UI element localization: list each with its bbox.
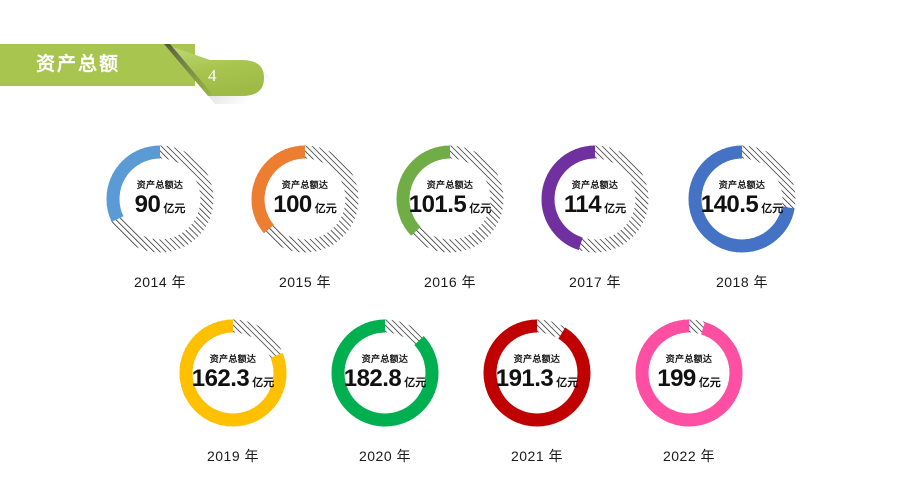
donut-chart: 资产总额达90亿元 (101, 140, 219, 258)
donut-year-label: 2020 年 (310, 446, 460, 466)
donut-year-label: 2021 年 (462, 446, 612, 466)
donut-year-label: 2022 年 (614, 446, 764, 466)
donut-cell-2016[interactable]: 资产总额达101.5亿元2016 年 (375, 140, 525, 292)
donut-chart: 资产总额达199亿元 (630, 314, 748, 432)
donut-cell-2022[interactable]: 资产总额达199亿元2022 年 (614, 314, 764, 466)
page-title: 资产总额 (36, 51, 120, 79)
donut-year-label: 2018 年 (667, 272, 817, 292)
donut-cell-2020[interactable]: 资产总额达182.8亿元2020 年 (310, 314, 460, 466)
donut-value-arc (490, 326, 584, 420)
donut-chart: 资产总额达114亿元 (536, 140, 654, 258)
donut-cell-2021[interactable]: 资产总额达191.3亿元2021 年 (462, 314, 612, 466)
donut-year-label: 2014 年 (85, 272, 235, 292)
donut-year-label: 2017 年 (520, 272, 670, 292)
donut-chart: 资产总额达162.3亿元 (174, 314, 292, 432)
donut-year-label: 2016 年 (375, 272, 525, 292)
donut-year-label: 2019 年 (158, 446, 308, 466)
donut-cell-2015[interactable]: 资产总额达100亿元2015 年 (230, 140, 380, 292)
donut-chart: 资产总额达140.5亿元 (683, 140, 801, 258)
page-number: 4 (208, 66, 217, 86)
donut-year-label: 2015 年 (230, 272, 380, 292)
donut-cell-2019[interactable]: 资产总额达162.3亿元2019 年 (158, 314, 308, 466)
donut-chart: 资产总额达182.8亿元 (326, 314, 444, 432)
donut-value-arc (642, 326, 736, 420)
donut-cell-2018[interactable]: 资产总额达140.5亿元2018 年 (667, 140, 817, 292)
donut-chart: 资产总额达101.5亿元 (391, 140, 509, 258)
header-banner: 资产总额 4 (0, 44, 270, 86)
donut-chart: 资产总额达191.3亿元 (478, 314, 596, 432)
donut-chart: 资产总额达100亿元 (246, 140, 364, 258)
donut-cell-2017[interactable]: 资产总额达114亿元2017 年 (520, 140, 670, 292)
donut-cell-2014[interactable]: 资产总额达90亿元2014 年 (85, 140, 235, 292)
